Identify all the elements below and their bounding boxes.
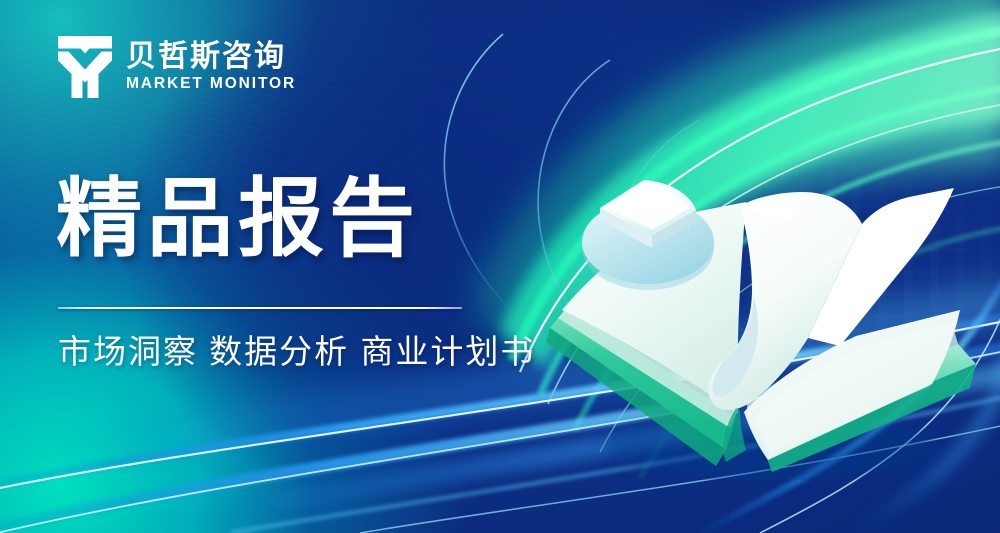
market-monitor-m-icon xyxy=(58,36,112,98)
report-promo-banner: 贝哲斯咨询 MARKET MONITOR 精品报告 市场洞察 数据分析 商业计划… xyxy=(0,0,1000,533)
brand-logo[interactable]: 贝哲斯咨询 MARKET MONITOR xyxy=(58,36,296,98)
title-divider xyxy=(58,307,462,309)
brand-logo-text: 贝哲斯咨询 MARKET MONITOR xyxy=(126,42,296,92)
page-title: 精品报告 xyxy=(56,173,420,266)
company-name-en: MARKET MONITOR xyxy=(126,76,296,92)
company-name-cn: 贝哲斯咨询 xyxy=(126,42,296,72)
page-subtitle: 市场洞察 数据分析 商业计划书 xyxy=(58,331,535,372)
open-book-illustration xyxy=(540,150,980,480)
pie-chart-element xyxy=(582,180,714,290)
